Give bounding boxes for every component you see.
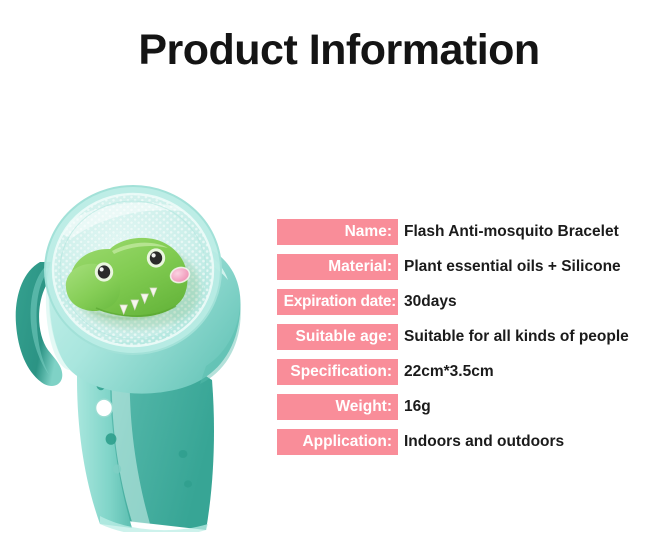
- spec-value-material: Plant essential oils + Silicone: [398, 254, 650, 280]
- spec-value-specification: 22cm*3.5cm: [398, 359, 650, 385]
- spec-value-application: Indoors and outdoors: [398, 429, 650, 455]
- spec-value-weight: 16g: [398, 394, 650, 420]
- spec-value-name: Flash Anti-mosquito Bracelet: [398, 219, 650, 245]
- spec-value-suitable-age: Suitable for all kinds of people: [398, 324, 650, 350]
- table-row: Suitable age: Suitable for all kinds of …: [277, 324, 650, 350]
- specification-table: Name: Flash Anti-mosquito Bracelet Mater…: [277, 219, 650, 455]
- spec-label-name: Name:: [277, 219, 398, 245]
- spec-label-application: Application:: [277, 429, 398, 455]
- spec-label-suitable-age: Suitable age:: [277, 324, 398, 350]
- product-image: [0, 112, 262, 532]
- product-information-page: Product Information: [0, 0, 650, 537]
- table-row: Expiration date: 30days: [277, 289, 650, 315]
- table-row: Application: Indoors and outdoors: [277, 429, 650, 455]
- crocodile-eye-right: [147, 248, 165, 267]
- table-row: Specification: 22cm*3.5cm: [277, 359, 650, 385]
- page-title: Product Information: [0, 24, 650, 76]
- spec-label-weight: Weight:: [277, 394, 398, 420]
- spec-label-material: Material:: [277, 254, 398, 280]
- spec-label-specification: Specification:: [277, 359, 398, 385]
- table-row: Weight: 16g: [277, 394, 650, 420]
- spec-value-expiration-date: 30days: [398, 289, 650, 315]
- crocodile-eye-left: [95, 262, 113, 281]
- spec-label-expiration-date: Expiration date:: [277, 289, 398, 315]
- table-row: Material: Plant essential oils + Silicon…: [277, 254, 650, 280]
- table-row: Name: Flash Anti-mosquito Bracelet: [277, 219, 650, 245]
